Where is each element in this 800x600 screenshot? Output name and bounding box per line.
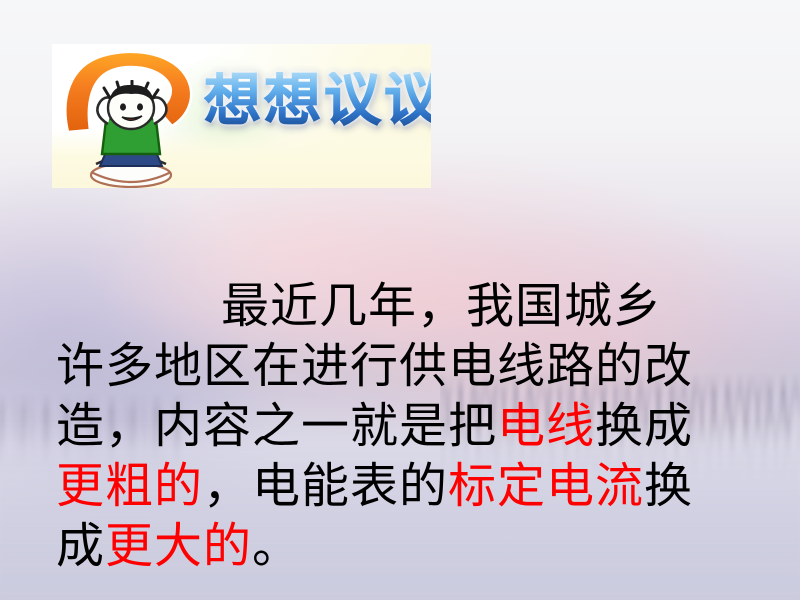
plain-run: ，电能表的 bbox=[203, 458, 448, 514]
paragraph-runs: 最近几年，我国城乡许多地区在进行供电线路的改造，内容之一就是把电线换成更粗的，电… bbox=[56, 278, 693, 574]
highlighted-run: 电线 bbox=[497, 398, 595, 454]
slide-body-paragraph: 最近几年，我国城乡许多地区在进行供电线路的改造，内容之一就是把电线换成更粗的，电… bbox=[56, 216, 706, 600]
plain-run: 换成 bbox=[595, 398, 693, 454]
highlighted-run: 标定电流 bbox=[448, 458, 644, 514]
slide-canvas: 想想议议 最近几年，我国城乡许多地区在进行供电线路的改造，内容之一就是把电线换成… bbox=[0, 0, 800, 600]
banner-title-text: 想想议议 bbox=[204, 72, 431, 129]
highlighted-run: 更大的 bbox=[105, 518, 252, 574]
think-and-discuss-banner: 想想议议 bbox=[52, 44, 431, 188]
thinking-child-icon bbox=[70, 80, 192, 188]
highlighted-run: 更粗的 bbox=[56, 458, 203, 514]
plain-run: 。 bbox=[252, 518, 301, 574]
